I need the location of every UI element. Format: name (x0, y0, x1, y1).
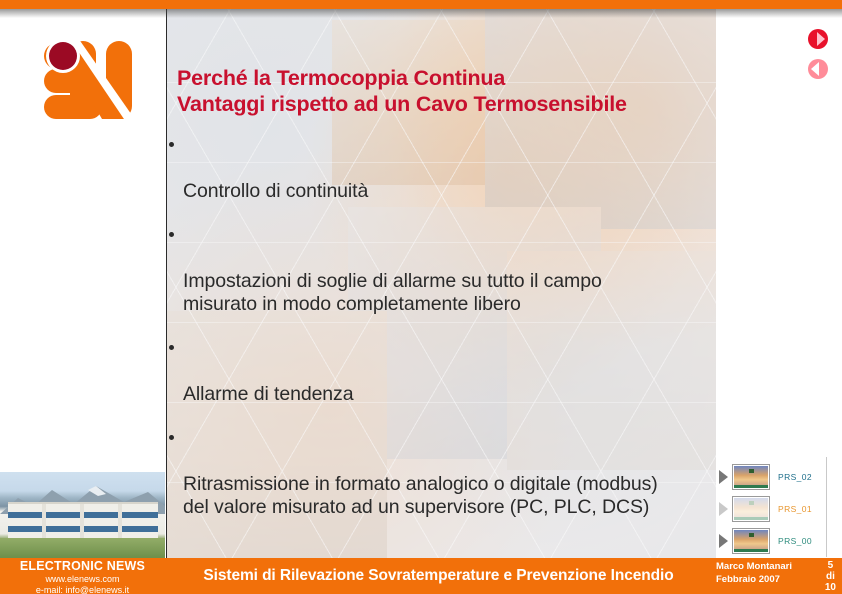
next-arrow-glyph (817, 32, 825, 46)
footer-author-block: Marco Montanari Febbraio 2007 (716, 561, 792, 587)
page-total: 10 (825, 582, 836, 593)
prev-slide-icon[interactable] (808, 59, 828, 79)
slide-canvas[interactable]: Perché la Termocoppia Continua Vantaggi … (166, 9, 717, 558)
footer-company-block: ELECTRONIC NEWS www.elenews.com e-mail: … (0, 558, 165, 594)
next-slide-icon[interactable] (808, 29, 828, 49)
slide-thumbnail[interactable] (732, 464, 770, 490)
list-item[interactable]: PRS_02 (716, 461, 842, 493)
company-email[interactable]: e-mail: info@elenews.it (0, 585, 165, 594)
bullet-item: Ritrasmissione in formato analogico o di… (169, 427, 714, 519)
company-building-photo (0, 472, 165, 558)
thumbnail-label: PRS_00 (778, 536, 812, 546)
bullet-text: Allarme di tendenza (183, 383, 353, 405)
electronic-news-logo-icon (30, 25, 134, 129)
play-arrow-icon[interactable] (719, 502, 728, 516)
list-item[interactable]: PRS_00 (716, 525, 842, 557)
bullet-dot-icon (169, 142, 174, 147)
left-branding-column (0, 9, 165, 558)
thumbnail-list: PRS_02 PRS_01 PRS_00 (716, 461, 842, 557)
bullet-dot-icon (169, 232, 174, 237)
top-accent-bar (0, 0, 842, 9)
list-item[interactable]: PRS_01 (716, 493, 842, 525)
right-navigation-panel: PRS_02 PRS_01 PRS_00 (716, 9, 842, 558)
author-name: Marco Montanari (716, 561, 792, 574)
bullet-dot-icon (169, 345, 174, 350)
bullet-item: Impostazioni di soglie di allarme su tut… (169, 224, 714, 316)
slide-thumbnail[interactable] (732, 528, 770, 554)
bullet-text: Ritrasmissione in formato analogico o di… (183, 473, 658, 518)
page-current: 5 (825, 560, 836, 571)
slide-thumbnail[interactable] (732, 496, 770, 522)
bullet-dot-icon (169, 435, 174, 440)
slide-bullet-list: Controllo di continuità Impostazioni di … (169, 134, 714, 540)
bullet-text: Impostazioni di soglie di allarme su tut… (183, 270, 602, 315)
page-of-label: di (825, 571, 836, 582)
bullet-item: Controllo di continuità (169, 134, 714, 203)
slide-title: Perché la Termocoppia Continua Vantaggi … (177, 65, 707, 117)
building-shape (8, 502, 158, 538)
bullet-text: Controllo di continuità (183, 180, 368, 202)
play-arrow-icon[interactable] (719, 470, 728, 484)
thumbnail-label: PRS_02 (778, 472, 812, 482)
grass-foreground (0, 538, 165, 558)
play-arrow-icon[interactable] (719, 534, 728, 548)
top-shadow (0, 9, 842, 18)
bullet-item: Allarme di tendenza (169, 337, 714, 406)
thumbnail-label: PRS_01 (778, 504, 812, 514)
footer-bar: ELECTRONIC NEWS www.elenews.com e-mail: … (0, 558, 842, 594)
footer-presentation-title: Sistemi di Rilevazione Sovratemperature … (166, 558, 711, 594)
presentation-date: Febbraio 2007 (716, 574, 792, 587)
company-name: ELECTRONIC NEWS (0, 559, 165, 573)
slide-nav-buttons (808, 29, 832, 89)
page-indicator: 5 di 10 (825, 560, 836, 594)
prev-arrow-glyph (811, 62, 819, 76)
company-website[interactable]: www.elenews.com (0, 574, 165, 584)
presentation-viewer: Perché la Termocoppia Continua Vantaggi … (0, 0, 842, 594)
